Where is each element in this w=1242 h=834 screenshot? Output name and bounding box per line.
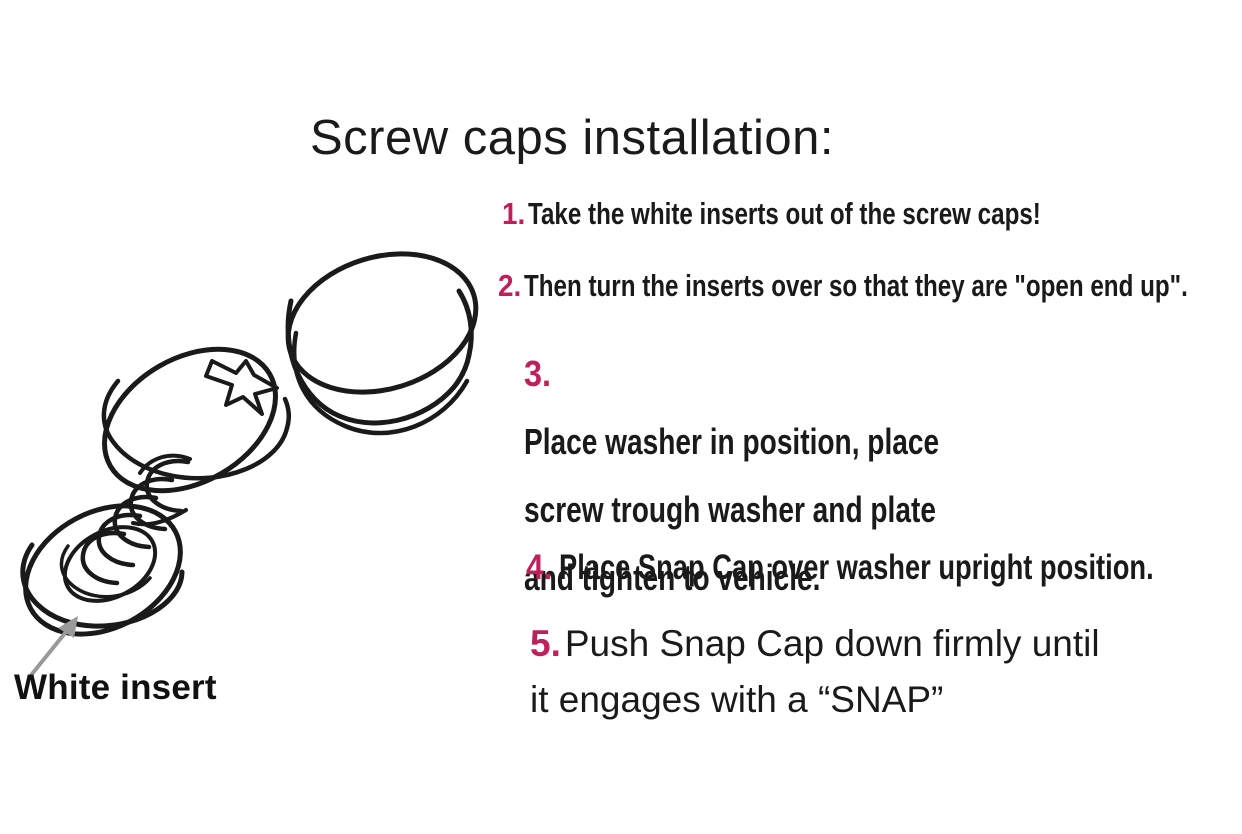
- exploded-assembly-illustration: [0, 215, 530, 675]
- step-text-1: Take the white inserts out of the screw …: [528, 196, 1041, 232]
- step-text-5-line-2: it engages with a “SNAP”: [530, 672, 1230, 728]
- step-text-3-line-2: screw trough washer and plate: [524, 476, 961, 544]
- step-text-5-line-1: Push Snap Cap down firmly until: [565, 623, 1100, 664]
- step-number-4: 4.: [526, 548, 552, 588]
- page-title: Screw caps installation:: [310, 113, 990, 164]
- step-number-5: 5.: [530, 616, 561, 672]
- instruction-step-2: 2.Then turn the inserts over so that the…: [498, 268, 1242, 304]
- step-text-4: Place Snap Cap over washer upright posit…: [559, 548, 1154, 588]
- instruction-step-4: 4.Place Snap Cap over washer upright pos…: [526, 548, 1242, 588]
- step-number-1: 1.: [502, 196, 525, 232]
- step-number-2: 2.: [498, 268, 521, 304]
- screw-head-shape: [79, 320, 300, 519]
- white-insert-label: White insert: [14, 668, 217, 708]
- step-text-3-line-1: Place washer in position, place: [524, 408, 939, 476]
- step-text-2: Then turn the inserts over so that they …: [524, 268, 1188, 304]
- step-number-3: 3.: [524, 340, 551, 408]
- instruction-step-1: 1.Take the white inserts out of the scre…: [502, 196, 1185, 232]
- snap-cap-shape: [271, 232, 493, 433]
- instruction-graphic: Screw caps installation:: [0, 0, 1242, 834]
- instruction-step-5: 5.Push Snap Cap down firmly until it eng…: [530, 616, 1230, 728]
